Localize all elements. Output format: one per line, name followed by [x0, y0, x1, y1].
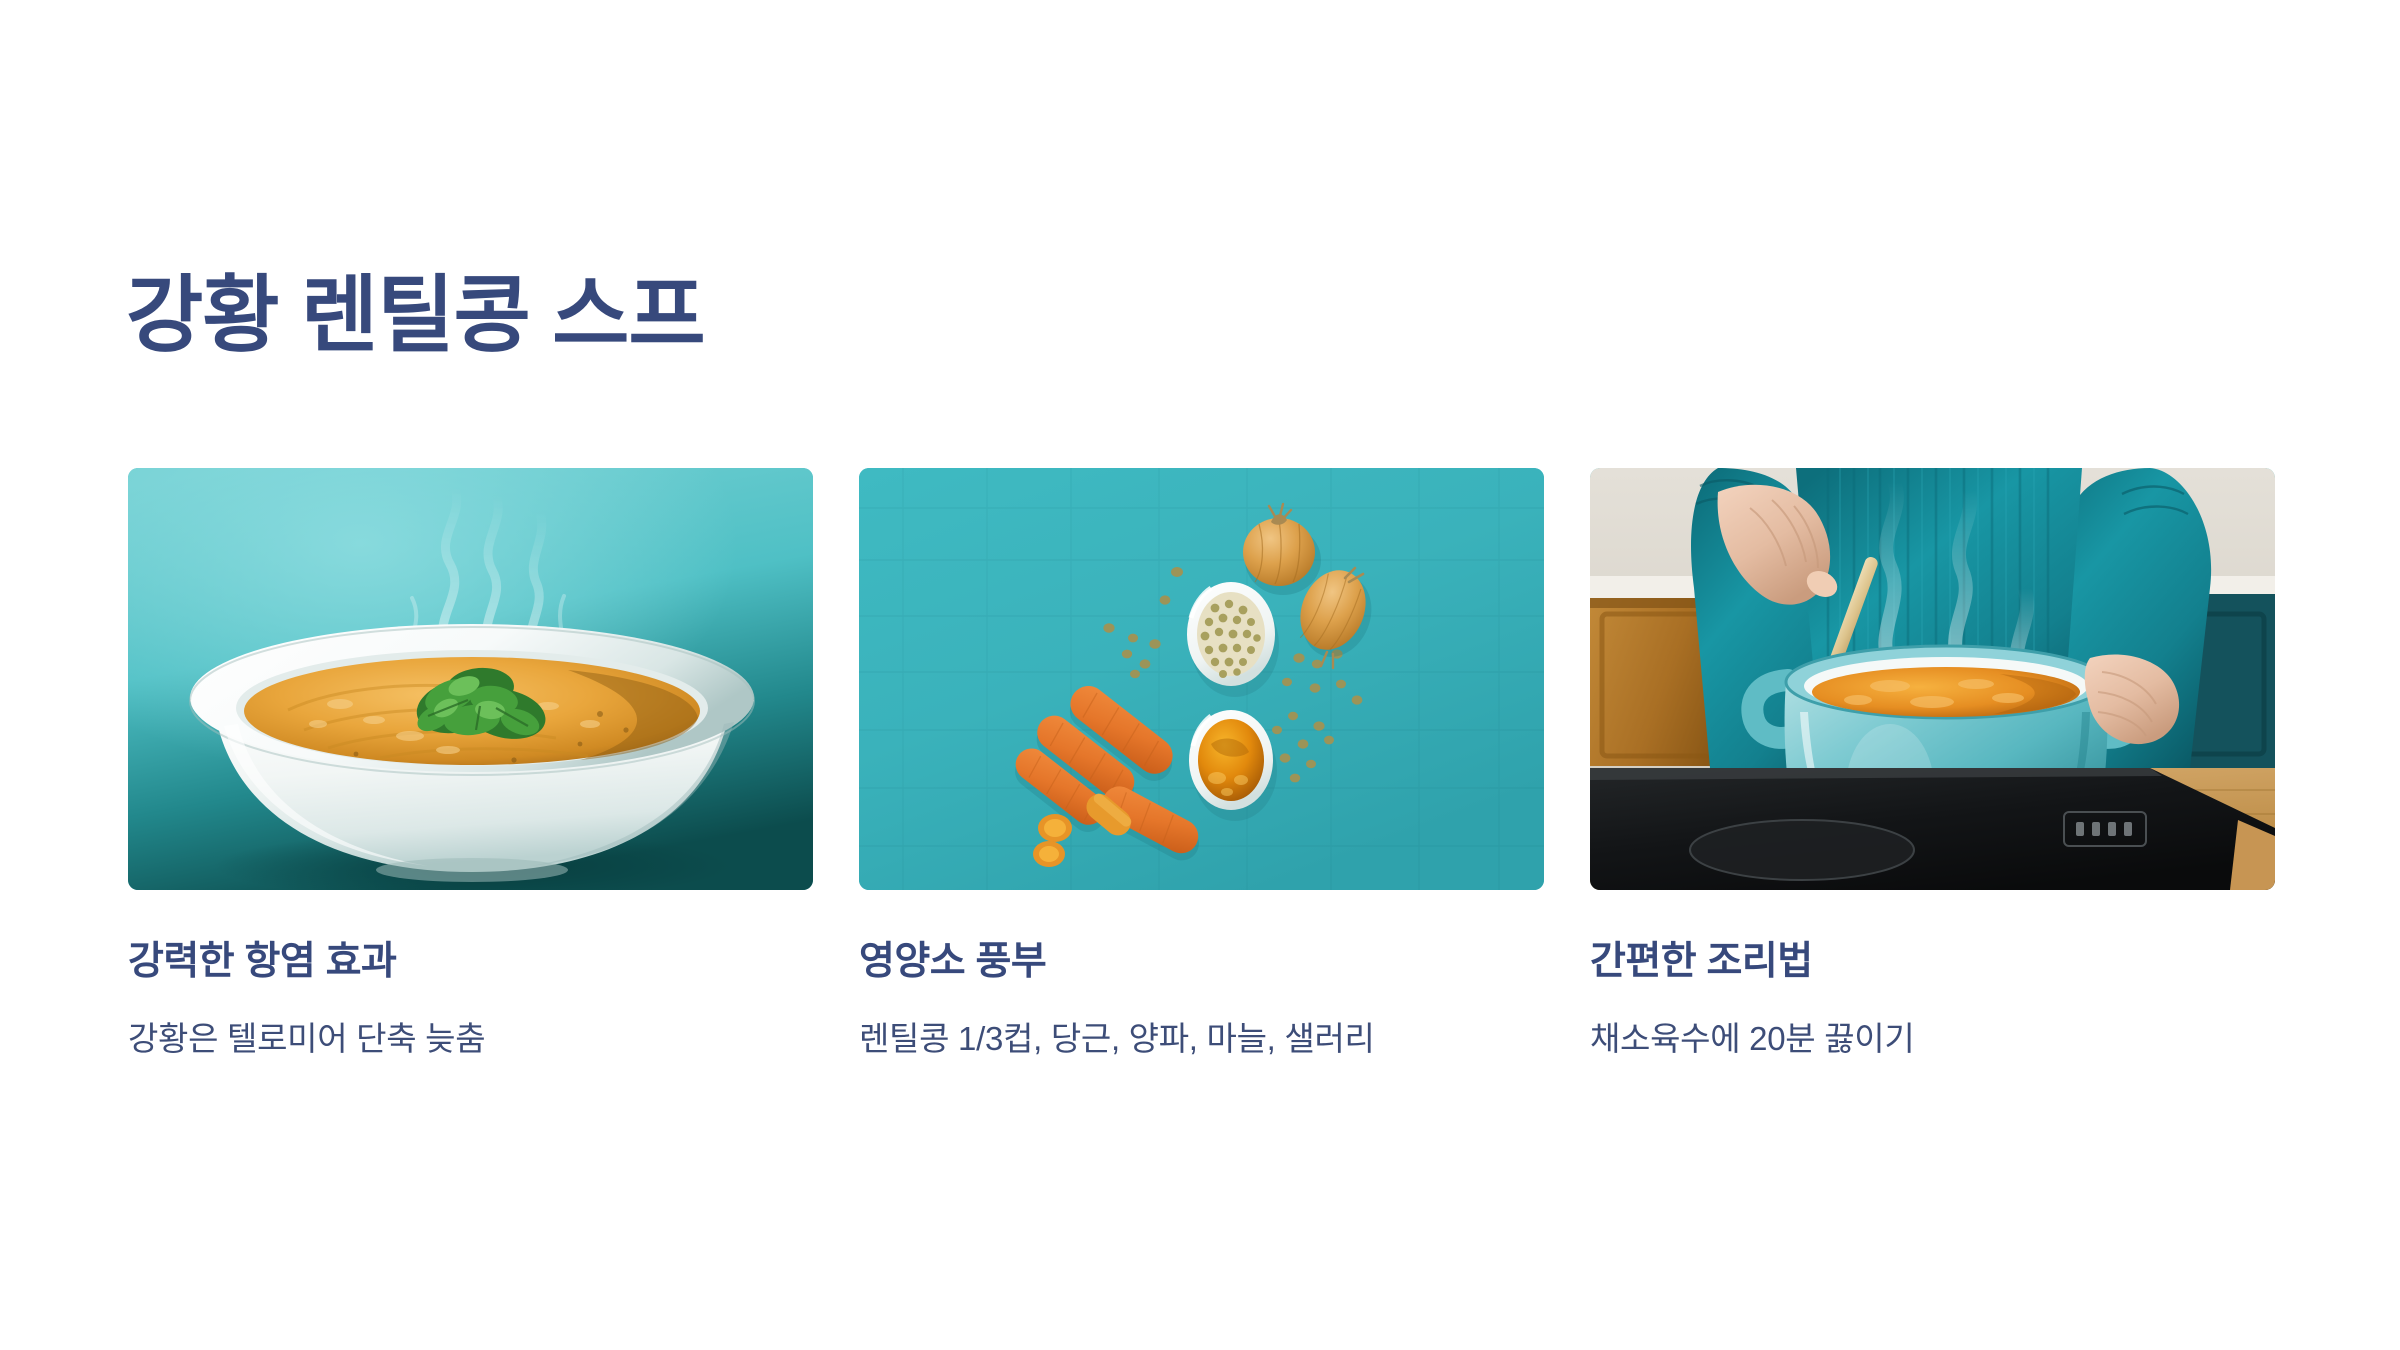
- card-item[interactable]: 강력한 항염 효과 강황은 텔로미어 단축 늦춤: [128, 468, 813, 1061]
- card-heading: 영양소 풍부: [859, 938, 1544, 987]
- card-description: 강황은 텔로미어 단축 늦춤: [128, 1017, 813, 1062]
- page-title: 강황 렌틸콩 스프: [126, 268, 705, 362]
- soup-bowl-photo: [128, 468, 813, 890]
- ingredients-flatlay-illustration: [859, 468, 1544, 890]
- slide-root: 강황 렌틸콩 스프: [0, 0, 2400, 1350]
- card-item[interactable]: 간편한 조리법 채소육수에 20분 끓이기: [1590, 468, 2275, 1061]
- card-description: 채소육수에 20분 끓이기: [1590, 1017, 2275, 1062]
- card-heading: 강력한 항염 효과: [128, 938, 813, 987]
- card-heading: 간편한 조리법: [1590, 938, 2275, 987]
- card-grid: 강력한 항염 효과 강황은 텔로미어 단축 늦춤: [128, 468, 2273, 1061]
- card-description: 렌틸콩 1/3컵, 당근, 양파, 마늘, 샐러리: [859, 1017, 1544, 1062]
- cooking-pot-photo: [1590, 468, 2275, 890]
- cooking-pot-illustration: [1590, 468, 2275, 890]
- card-item[interactable]: 영양소 풍부 렌틸콩 1/3컵, 당근, 양파, 마늘, 샐러리: [859, 468, 1544, 1061]
- ingredients-flatlay-photo: [859, 468, 1544, 890]
- soup-bowl-illustration: [128, 468, 813, 890]
